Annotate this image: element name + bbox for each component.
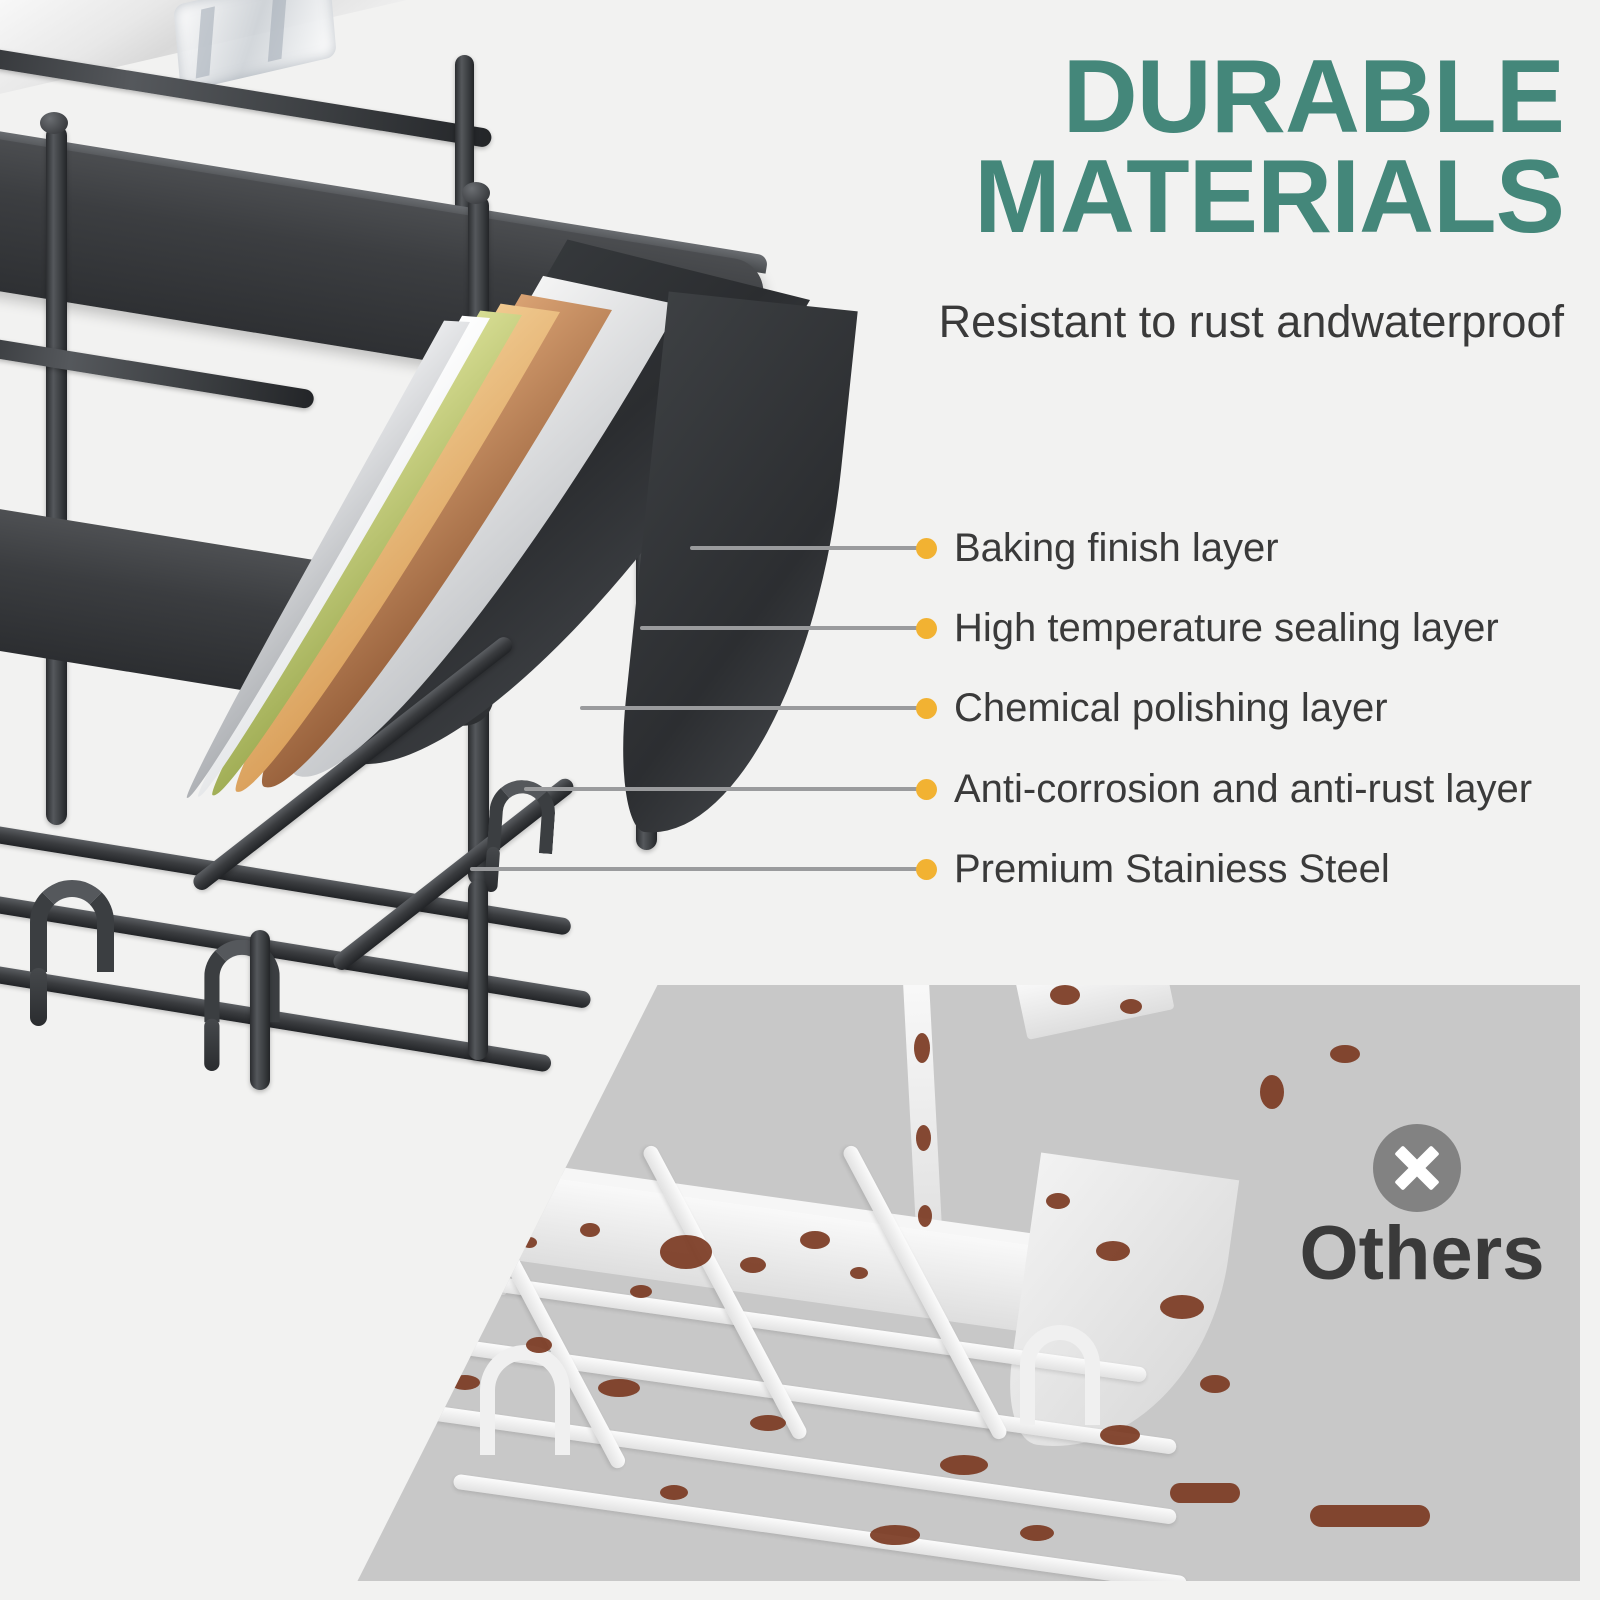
rust-spot xyxy=(660,1235,712,1269)
post-cap-left xyxy=(40,112,68,134)
rust-spot xyxy=(1020,1525,1054,1541)
leader-line xyxy=(690,546,918,550)
page-title: DURABLE MATERIALS xyxy=(664,48,1564,248)
leader-line xyxy=(524,787,918,791)
leader-line xyxy=(580,706,918,710)
callout-row-4: Premium Stainiess Steel xyxy=(470,846,1390,892)
callout-label: Anti-corrosion and anti-rust layer xyxy=(954,767,1532,812)
bullet-dot xyxy=(916,859,937,880)
rust-spot xyxy=(450,1375,480,1390)
rust-spot xyxy=(918,1205,932,1227)
bullet-dot xyxy=(916,779,937,800)
callout-label: Premium Stainiess Steel xyxy=(954,847,1390,892)
rust-spot xyxy=(940,1455,988,1475)
bullet-dot xyxy=(916,538,937,559)
rust-spot xyxy=(800,1231,830,1249)
page-subtitle: Resistant to rust andwaterproof xyxy=(664,296,1564,348)
rust-spot xyxy=(1310,1505,1430,1527)
bullet-dot xyxy=(916,698,937,719)
rusty-hook-left xyxy=(480,1345,570,1455)
rust-spot xyxy=(914,1033,930,1063)
callout-row-3: Anti-corrosion and anti-rust layer xyxy=(524,766,1532,812)
callout-row-1: High temperature sealing layer xyxy=(640,605,1499,651)
adhesive-mount-clip xyxy=(173,0,336,92)
rust-spot xyxy=(1200,1375,1230,1393)
rust-spot xyxy=(750,1415,786,1431)
rust-spot xyxy=(1120,999,1142,1014)
rust-spot xyxy=(454,1213,472,1226)
rust-spot xyxy=(512,1185,525,1205)
rust-spot xyxy=(630,1285,652,1298)
callout-label: Baking finish layer xyxy=(954,526,1279,571)
callout-row-0: Baking finish layer xyxy=(690,525,1279,571)
hook-left xyxy=(30,880,114,972)
rust-spot xyxy=(526,1337,552,1353)
leg-wire-left xyxy=(250,930,270,1090)
leader-line xyxy=(470,867,918,871)
hook-left-tail xyxy=(30,968,47,1026)
title-line-2: MATERIALS xyxy=(664,148,1564,248)
rust-spot xyxy=(1170,1483,1240,1503)
rust-spot xyxy=(580,1223,600,1237)
hook-mid-tail xyxy=(204,1019,219,1071)
post-cap-mid xyxy=(462,182,490,204)
rust-spot xyxy=(740,1257,766,1273)
callout-label: High temperature sealing layer xyxy=(954,606,1499,651)
leader-line xyxy=(640,626,918,630)
rust-spot xyxy=(916,1125,931,1151)
rusty-hook-right xyxy=(1020,1325,1100,1425)
cross-icon xyxy=(1373,1124,1461,1212)
rust-spot xyxy=(1260,1075,1284,1109)
rust-spot xyxy=(1160,1295,1204,1319)
rust-spot xyxy=(660,1485,688,1500)
rust-spot xyxy=(522,1237,537,1248)
callout-label: Chemical polishing layer xyxy=(954,686,1388,731)
rust-spot xyxy=(850,1267,868,1279)
rust-spot xyxy=(1096,1241,1130,1261)
rust-spot xyxy=(1100,1425,1140,1445)
post-wire-left xyxy=(46,125,67,825)
callout-row-2: Chemical polishing layer xyxy=(580,685,1388,731)
title-line-1: DURABLE xyxy=(664,48,1564,148)
rusty-grid-bar-4 xyxy=(453,1474,1188,1581)
infographic-canvas: DURABLE MATERIALS Resistant to rust andw… xyxy=(0,0,1600,1600)
rusty-shelf-back-panel-3 xyxy=(1015,985,1174,1040)
rust-spot xyxy=(1050,985,1080,1005)
comparison-label: Others xyxy=(1262,1210,1582,1297)
rust-spot xyxy=(1330,1045,1360,1063)
bullet-dot xyxy=(916,618,937,639)
rust-spot xyxy=(1046,1193,1070,1209)
leg-wire-right xyxy=(468,880,488,1060)
rust-spot xyxy=(870,1525,920,1545)
rust-spot xyxy=(598,1379,640,1397)
